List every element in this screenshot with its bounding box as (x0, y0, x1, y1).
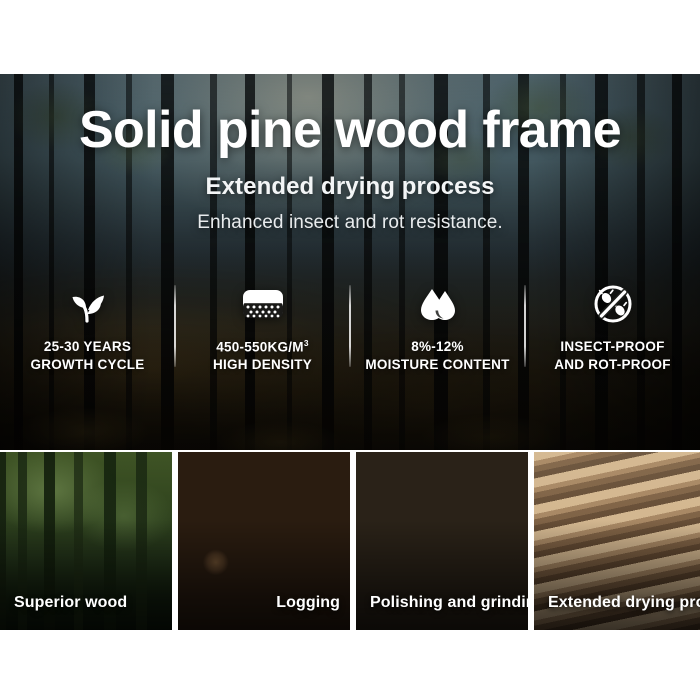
caption-shade (356, 520, 528, 630)
feature-line-2: AND ROT-PROOF (554, 357, 671, 372)
feature-line-2: GROWTH CYCLE (31, 357, 145, 372)
leaf-sprout-icon (66, 281, 110, 327)
photo-caption: Logging (276, 594, 340, 612)
feature-line-1: 25-30 YEARS (44, 339, 131, 354)
feature-list: 25-30 YEARS GROWTH CYCLE (0, 281, 700, 374)
no-insect-icon (591, 281, 635, 327)
product-feature-banner: Solid pine wood frame Extended drying pr… (0, 0, 700, 700)
hero-text-block: Solid pine wood frame Extended drying pr… (0, 74, 700, 234)
hero-subheading: Extended drying process (0, 157, 700, 201)
caption-shade (534, 520, 700, 630)
feature-label: INSECT-PROOF AND ROT-PROOF (554, 338, 671, 374)
photo-card-superior-wood[interactable]: Superior wood (0, 452, 172, 630)
feature-line-1: 8%-12% (411, 339, 464, 354)
hero-tagline: Enhanced insect and rot resistance. (0, 201, 700, 234)
feature-label: 8%-12% MOISTURE CONTENT (365, 338, 509, 374)
photo-caption: Extended drying proces (548, 594, 700, 612)
page-title: Solid pine wood frame (0, 74, 700, 157)
feature-moisture-content: 8%-12% MOISTURE CONTENT (350, 281, 525, 374)
process-photo-strip: Superior wood Logging Polishing and grin… (0, 452, 700, 630)
feature-high-density: 450-550KG/M3 HIGH DENSITY (175, 281, 350, 374)
feature-growth-cycle: 25-30 YEARS GROWTH CYCLE (0, 281, 175, 374)
caption-shade (0, 520, 172, 630)
photo-card-logging[interactable]: Logging (178, 452, 350, 630)
feature-line-1-superscript: 3 (304, 338, 309, 348)
feature-label: 25-30 YEARS GROWTH CYCLE (31, 338, 145, 374)
water-droplets-icon (416, 281, 460, 327)
photo-card-polishing-and-grinding[interactable]: Polishing and grinding (356, 452, 528, 630)
photo-caption: Polishing and grinding (370, 594, 524, 612)
feature-line-1: INSECT-PROOF (560, 339, 664, 354)
feature-line-2: HIGH DENSITY (213, 357, 312, 372)
photo-caption: Superior wood (14, 594, 168, 612)
feature-insect-rot-proof: INSECT-PROOF AND ROT-PROOF (525, 281, 700, 374)
photo-card-extended-drying-process[interactable]: Extended drying proces (534, 452, 700, 630)
mattress-density-icon (240, 281, 286, 327)
hero-banner: Solid pine wood frame Extended drying pr… (0, 74, 700, 450)
caption-shade (178, 520, 350, 630)
feature-line-1: 450-550KG/M (216, 340, 304, 355)
feature-label: 450-550KG/M3 HIGH DENSITY (213, 338, 312, 374)
feature-line-2: MOISTURE CONTENT (365, 357, 509, 372)
